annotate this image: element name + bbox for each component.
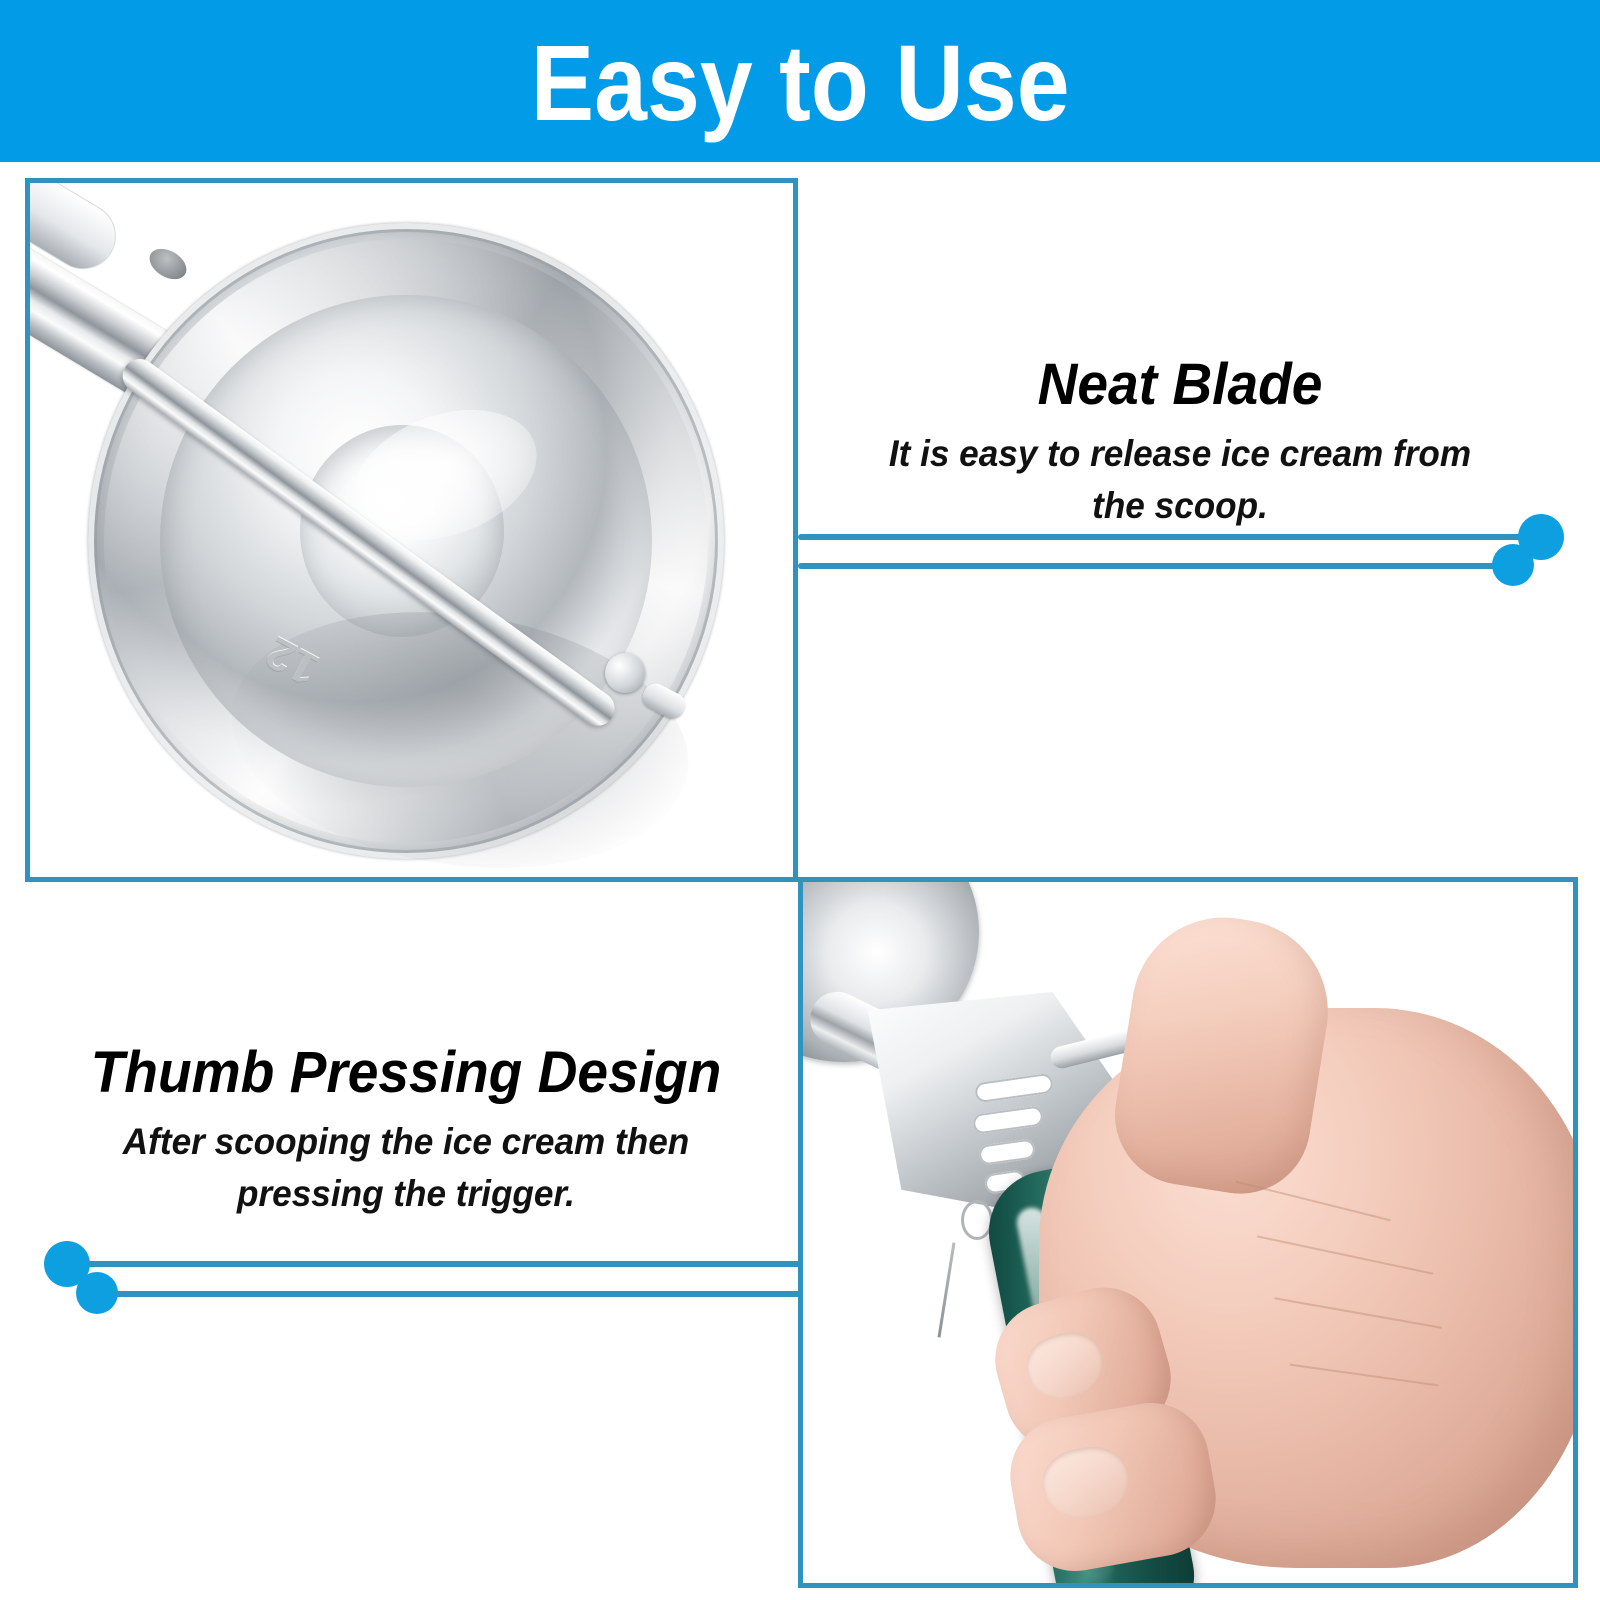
connector-line-top-right-1 bbox=[798, 534, 1540, 540]
feature-title-neat-blade: Neat Blade bbox=[848, 352, 1513, 418]
feature-body-line-1-neat-blade: It is easy to release ice cream from bbox=[848, 428, 1513, 480]
scoop-top-view-image: 12 bbox=[30, 183, 793, 877]
connector-line-top-right-2 bbox=[798, 563, 1513, 569]
feature-body-line-2-thumb-pressing: pressing the trigger. bbox=[74, 1168, 739, 1220]
feature-thumb-pressing-design: Thumb Pressing Design After scooping the… bbox=[56, 1040, 756, 1220]
feature-body-line-2-neat-blade: the scoop. bbox=[848, 480, 1513, 532]
feature-title-thumb-pressing: Thumb Pressing Design bbox=[74, 1040, 739, 1106]
feature-neat-blade: Neat Blade It is easy to release ice cre… bbox=[830, 352, 1530, 532]
connector-dot-top-right-2 bbox=[1492, 544, 1534, 586]
scoop-scraper-pivot bbox=[605, 653, 645, 693]
connector-line-bottom-left-1 bbox=[64, 1261, 804, 1267]
header-banner: Easy to Use bbox=[0, 0, 1600, 162]
scoop-weld-joint bbox=[144, 243, 192, 286]
feature-body-line-1-thumb-pressing: After scooping the ice cream then bbox=[74, 1116, 739, 1168]
connector-dot-bottom-left-2 bbox=[76, 1272, 118, 1314]
scoop-top-view-panel: 12 bbox=[25, 178, 798, 882]
scoop-bowl bbox=[88, 223, 724, 859]
hand-holding-scoop-image bbox=[803, 882, 1573, 1583]
page-title: Easy to Use bbox=[531, 29, 1070, 137]
hand-holding-scoop-panel bbox=[798, 877, 1578, 1588]
connector-line-bottom-left-2 bbox=[96, 1291, 804, 1297]
scoop-pin bbox=[938, 1242, 956, 1337]
